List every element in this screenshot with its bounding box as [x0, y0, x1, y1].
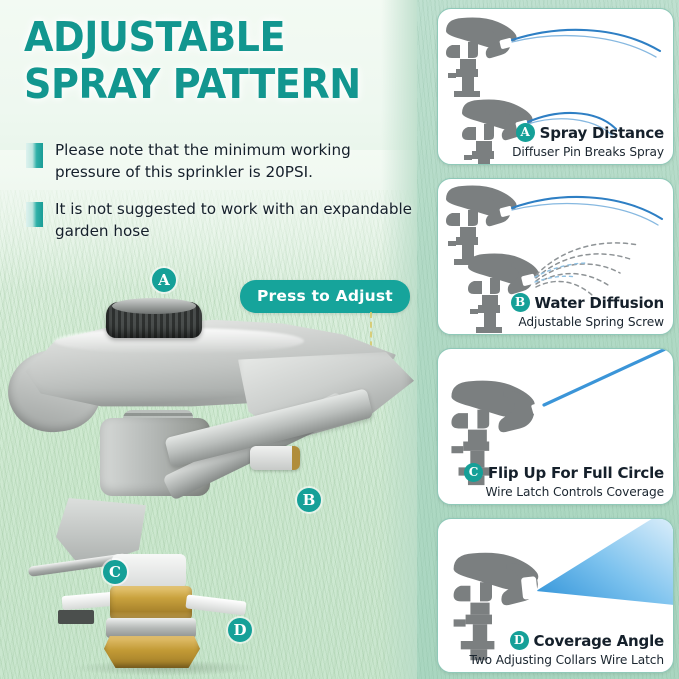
panel-subtitle-c: Wire Latch Controls Coverage — [486, 485, 665, 499]
feature-panel-a-label: A Spray Distance — [516, 123, 664, 142]
panel-title-c: Flip Up For Full Circle — [488, 464, 664, 482]
infographic-canvas: ADJUSTABLE SPRAY PATTERN Please note tha… — [0, 0, 679, 679]
panel-letter-c: C — [464, 463, 483, 482]
feature-panel-b-label: B Water Diffusion — [511, 293, 664, 312]
panel-title-b: Water Diffusion — [535, 294, 664, 312]
product-spring-screw — [250, 446, 300, 470]
page-title: ADJUSTABLE SPRAY PATTERN — [24, 14, 424, 108]
product-collar-tab-right — [185, 594, 246, 615]
bullet-list: Please note that the minimum working pre… — [26, 140, 416, 258]
panel-subtitle-a: Diffuser Pin Breaks Spray — [512, 145, 664, 159]
product-brass-hex-nut — [104, 636, 200, 668]
panel-subtitle-d: Two Adjusting Collars Wire Latch — [469, 653, 664, 667]
feature-panel-d[interactable]: D Coverage Angle Two Adjusting Collars W… — [437, 518, 674, 673]
product-brass-collar-upper — [110, 586, 192, 620]
panel-subtitle-b: Adjustable Spring Screw — [518, 315, 664, 329]
bullet-marker-icon — [26, 143, 43, 168]
list-item: It is not suggested to work with an expa… — [26, 199, 416, 242]
page-title-line-2: SPRAY PATTERN — [24, 61, 396, 108]
panel-letter-b: B — [511, 293, 530, 312]
bullet-text: Please note that the minimum working pre… — [55, 140, 416, 183]
product-marker-a: A — [152, 268, 176, 292]
product-marker-b: B — [297, 488, 321, 512]
product-collar-tab-left-dark — [58, 610, 94, 624]
bullet-text: It is not suggested to work with an expa… — [55, 199, 416, 242]
product-collar-tab-left — [61, 592, 114, 610]
panel-letter-a: A — [516, 123, 535, 142]
product-knob-cap — [112, 298, 196, 314]
product-marker-d: D — [228, 618, 252, 642]
bullet-marker-icon — [26, 202, 43, 227]
list-item: Please note that the minimum working pre… — [26, 140, 416, 183]
feature-panel-a[interactable]: A Spray Distance Diffuser Pin Breaks Spr… — [437, 8, 674, 165]
panel-title-d: Coverage Angle — [534, 632, 664, 650]
feature-panel-c[interactable]: C Flip Up For Full Circle Wire Latch Con… — [437, 348, 674, 505]
product-marker-c: C — [103, 560, 127, 584]
page-title-line-1: ADJUSTABLE — [24, 14, 396, 61]
panel-title-a: Spray Distance — [540, 124, 664, 142]
feature-panel-d-label: D Coverage Angle — [510, 631, 664, 650]
feature-panel-b[interactable]: B Water Diffusion Adjustable Spring Scre… — [437, 178, 674, 335]
product-steel-ring — [106, 618, 196, 638]
panel-letter-d: D — [510, 631, 529, 650]
product-photo-sprinkler-head — [0, 298, 420, 658]
feature-panel-c-label: C Flip Up For Full Circle — [464, 463, 664, 482]
